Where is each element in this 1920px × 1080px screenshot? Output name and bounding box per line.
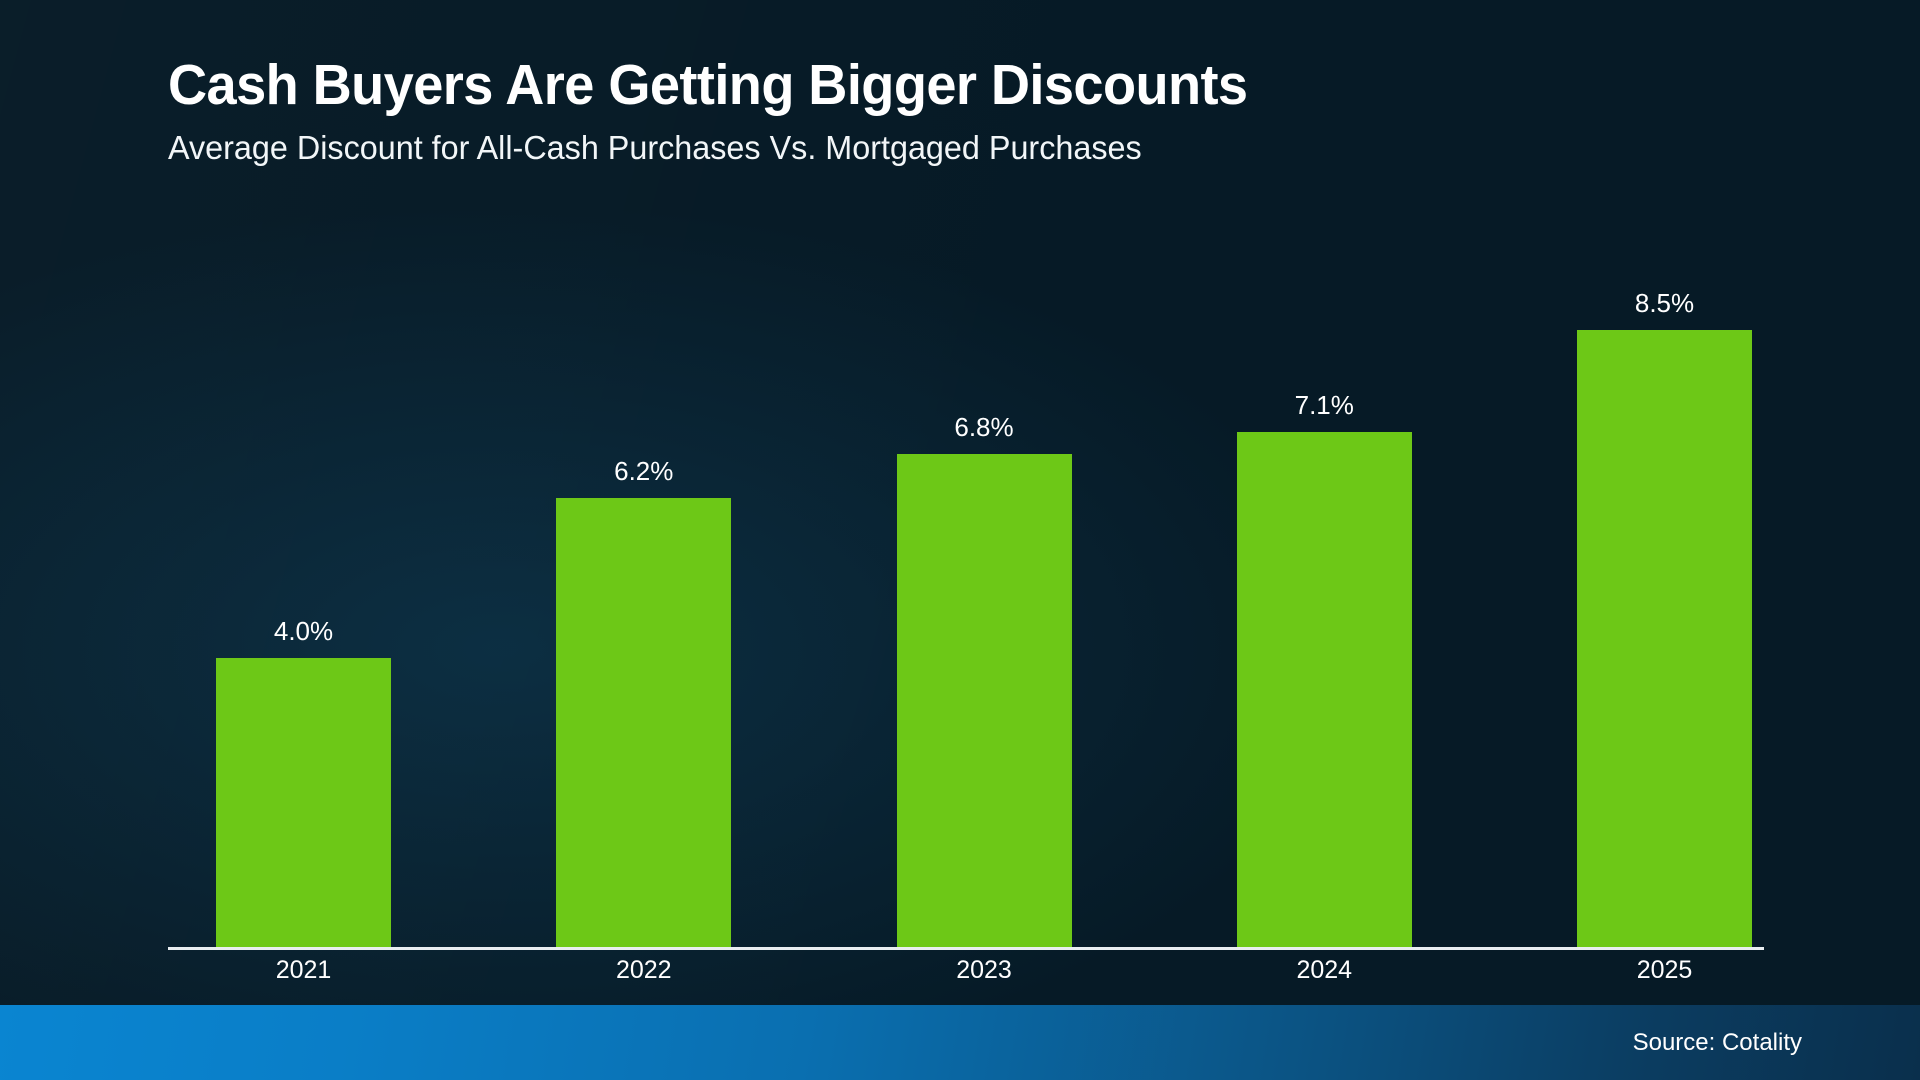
x-axis-line bbox=[168, 947, 1764, 950]
bar-series: 4.0% 6.2% 6.8% 7.1% 8.5% bbox=[168, 250, 1758, 950]
bar-value-label: 8.5% bbox=[1635, 290, 1694, 316]
bar-rect[interactable] bbox=[216, 658, 391, 950]
x-axis-tick-labels: 2021 2022 2023 2024 2025 bbox=[168, 956, 1758, 985]
bar-group-2023[interactable]: 6.8% bbox=[897, 250, 1072, 950]
bar-group-2022[interactable]: 6.2% bbox=[556, 250, 731, 950]
bar-rect[interactable] bbox=[897, 454, 1072, 950]
x-tick-2025: 2025 bbox=[1577, 956, 1752, 985]
bar-rect[interactable] bbox=[1577, 330, 1752, 950]
bar-value-label: 4.0% bbox=[274, 618, 333, 644]
x-tick-2024: 2024 bbox=[1237, 956, 1412, 985]
x-tick-2023: 2023 bbox=[897, 956, 1072, 985]
bar-rect[interactable] bbox=[556, 498, 731, 950]
bar-value-label: 6.8% bbox=[954, 414, 1013, 440]
page-title: Cash Buyers Are Getting Bigger Discounts bbox=[168, 56, 1707, 115]
footer-bar: Source: Cotality bbox=[0, 1005, 1920, 1080]
bar-group-2024[interactable]: 7.1% bbox=[1237, 250, 1412, 950]
source-attribution: Source: Cotality bbox=[1633, 1029, 1802, 1057]
bar-group-2021[interactable]: 4.0% bbox=[216, 250, 391, 950]
x-tick-2021: 2021 bbox=[216, 956, 391, 985]
bar-rect[interactable] bbox=[1237, 432, 1412, 950]
bar-value-label: 7.1% bbox=[1295, 392, 1354, 418]
chart-header: Cash Buyers Are Getting Bigger Discounts… bbox=[168, 56, 1788, 167]
chart-slide: Cash Buyers Are Getting Bigger Discounts… bbox=[0, 0, 1920, 1080]
x-tick-2022: 2022 bbox=[556, 956, 731, 985]
bar-value-label: 6.2% bbox=[614, 458, 673, 484]
plot-area: 4.0% 6.2% 6.8% 7.1% 8.5% 2021 bbox=[168, 250, 1758, 950]
bar-group-2025[interactable]: 8.5% bbox=[1577, 250, 1752, 950]
chart-subtitle: Average Discount for All-Cash Purchases … bbox=[168, 129, 1756, 167]
